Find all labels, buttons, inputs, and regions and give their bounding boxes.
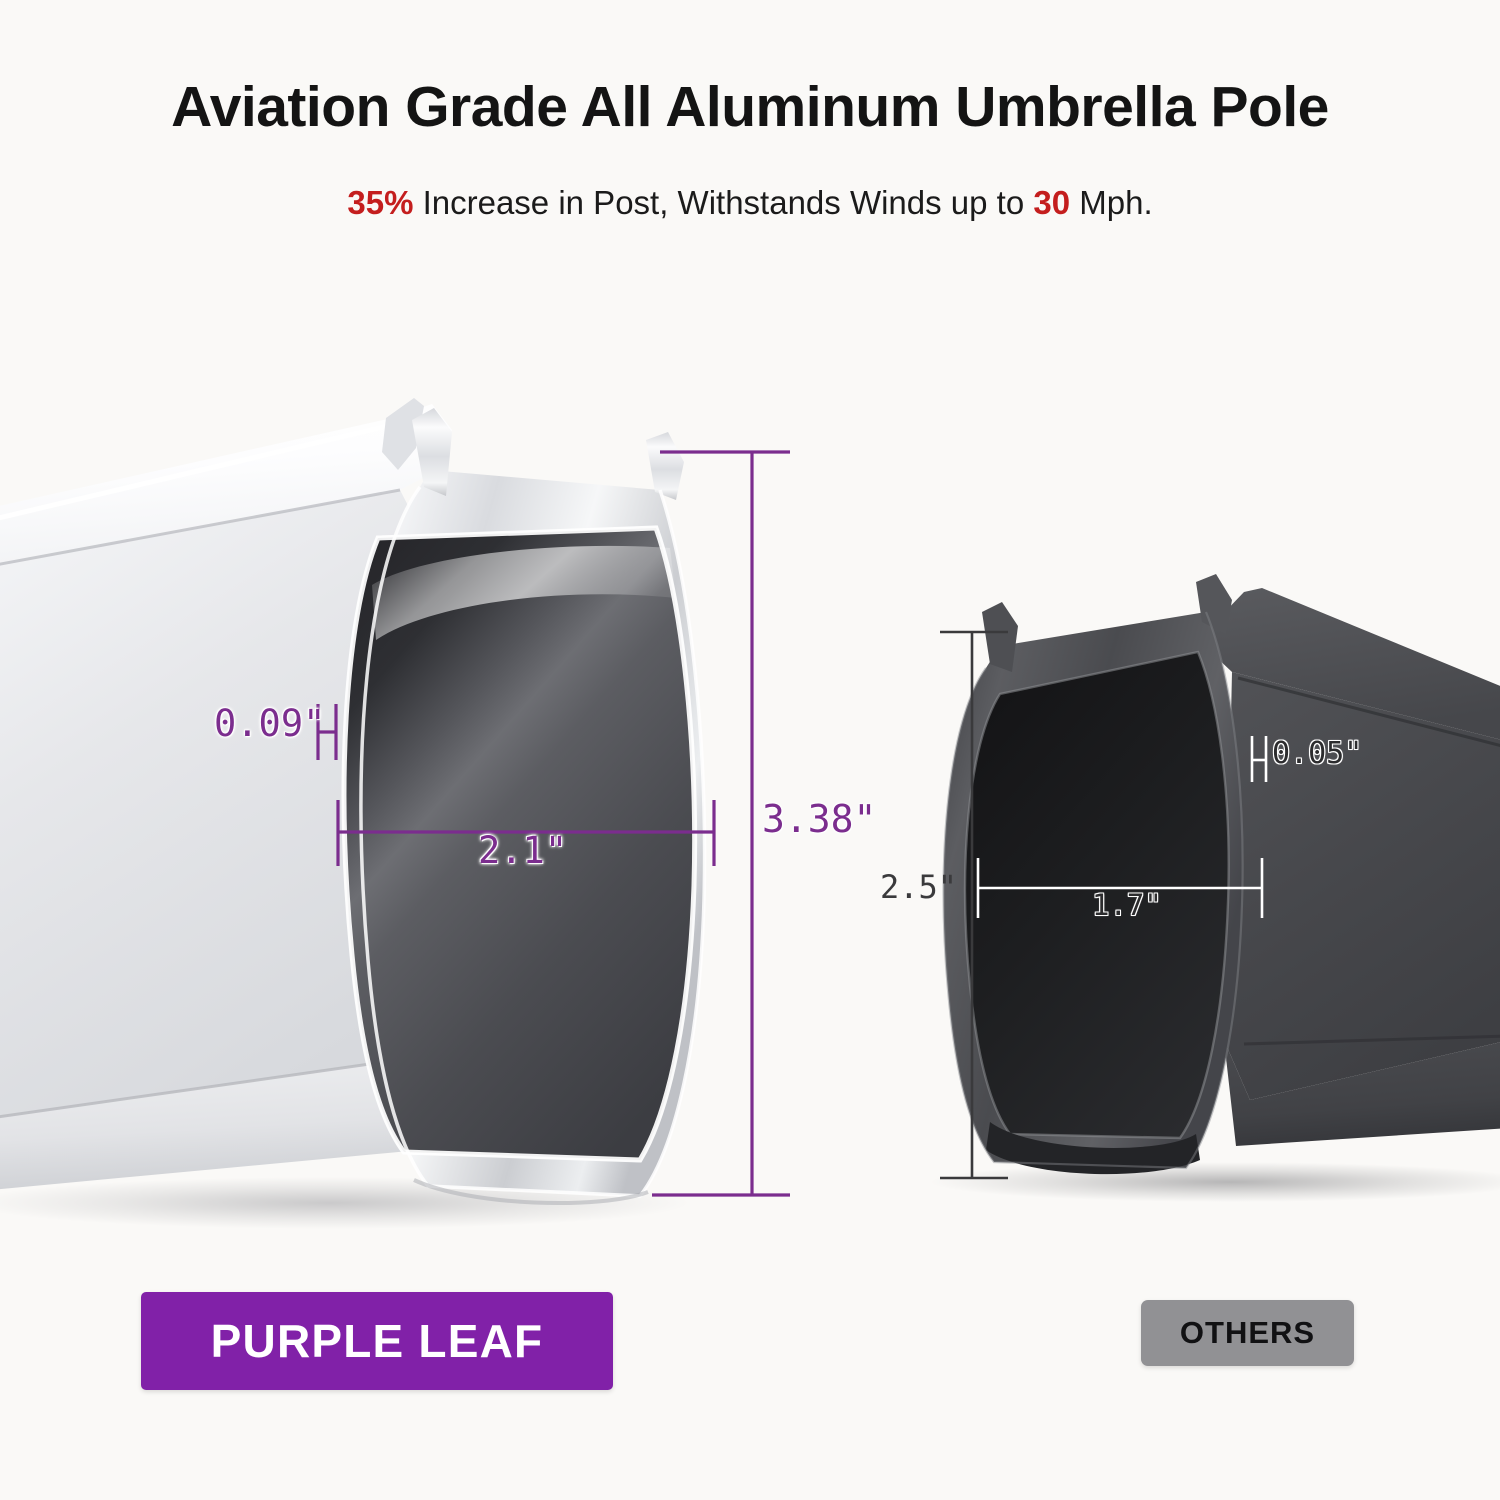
left-wall-thickness-label: 0.09" — [214, 702, 325, 745]
brand-badge-purple-leaf: PURPLE LEAF — [141, 1292, 613, 1390]
left-width-label: 2.1" — [478, 829, 567, 872]
infographic-canvas: Aviation Grade All Aluminum Umbrella Pol… — [0, 0, 1500, 1500]
right-wall-thickness-label: 0.05" — [1272, 736, 1362, 771]
left-pole-near-fin-left — [412, 408, 452, 496]
right-width-label: 1.7" — [1092, 888, 1162, 922]
brand-badge-others: OTHERS — [1141, 1300, 1354, 1366]
left-height-label: 3.38" — [762, 797, 876, 841]
right-pole-near-fin-left — [982, 602, 1018, 672]
right-height-label: 2.5" — [880, 868, 957, 906]
purple-leaf-pole-illustration — [0, 398, 705, 1229]
right-pole-ground-shadow — [930, 1162, 1500, 1202]
